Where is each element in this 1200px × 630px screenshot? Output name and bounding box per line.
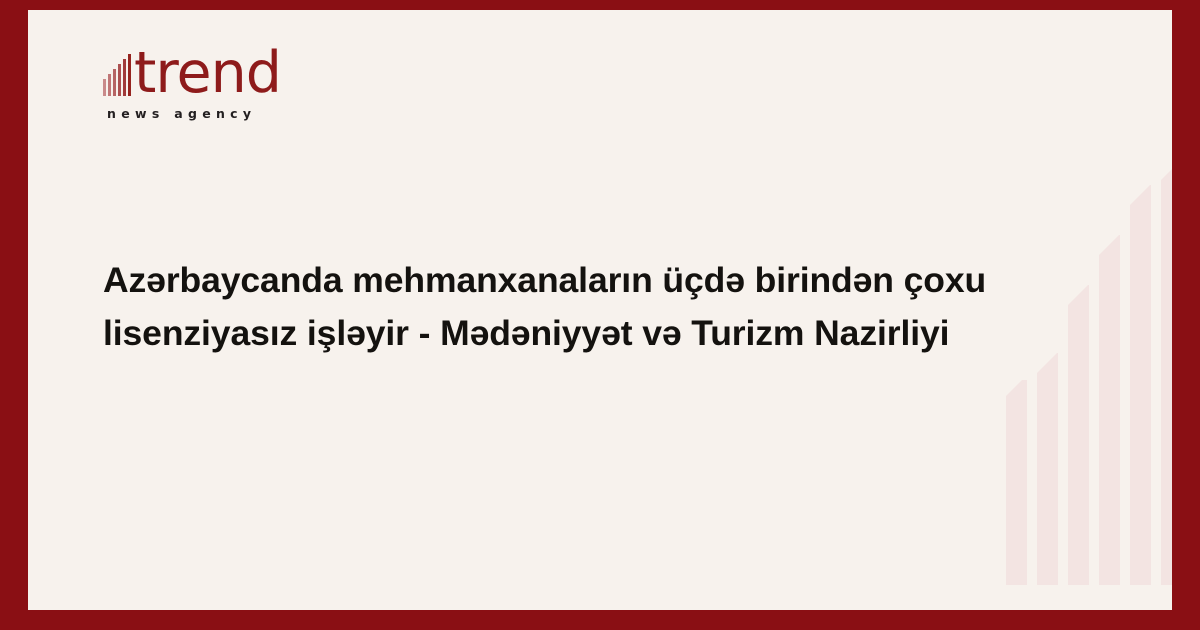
- card-canvas: trend news agency Azərbaycanda mehmanxan…: [28, 10, 1172, 610]
- article-headline: Azərbaycanda mehmanxanaların üçdə birind…: [103, 254, 1038, 359]
- trend-news-agency-logo[interactable]: trend news agency: [103, 40, 403, 121]
- logo-mark: trend: [103, 40, 403, 98]
- logo-bar: [128, 54, 131, 96]
- decoration-bar: [1099, 235, 1120, 585]
- social-share-card: trend news agency Azərbaycanda mehmanxan…: [0, 0, 1200, 630]
- logo-bar: [118, 64, 121, 96]
- decoration-bar: [1037, 353, 1058, 585]
- logo-bar: [123, 59, 126, 96]
- ascending-bars-decoration: [1012, 180, 1172, 610]
- decoration-bar: [1161, 160, 1172, 585]
- logo-bar: [103, 79, 106, 96]
- decoration-bar: [1130, 185, 1151, 585]
- decoration-bar: [1006, 380, 1027, 585]
- logo-bar: [108, 74, 111, 96]
- decoration-bar: [1068, 285, 1089, 585]
- logo-wordmark: trend: [134, 50, 281, 98]
- logo-bars-icon: [103, 52, 133, 96]
- logo-bar: [113, 69, 116, 96]
- logo-tagline: news agency: [107, 106, 403, 121]
